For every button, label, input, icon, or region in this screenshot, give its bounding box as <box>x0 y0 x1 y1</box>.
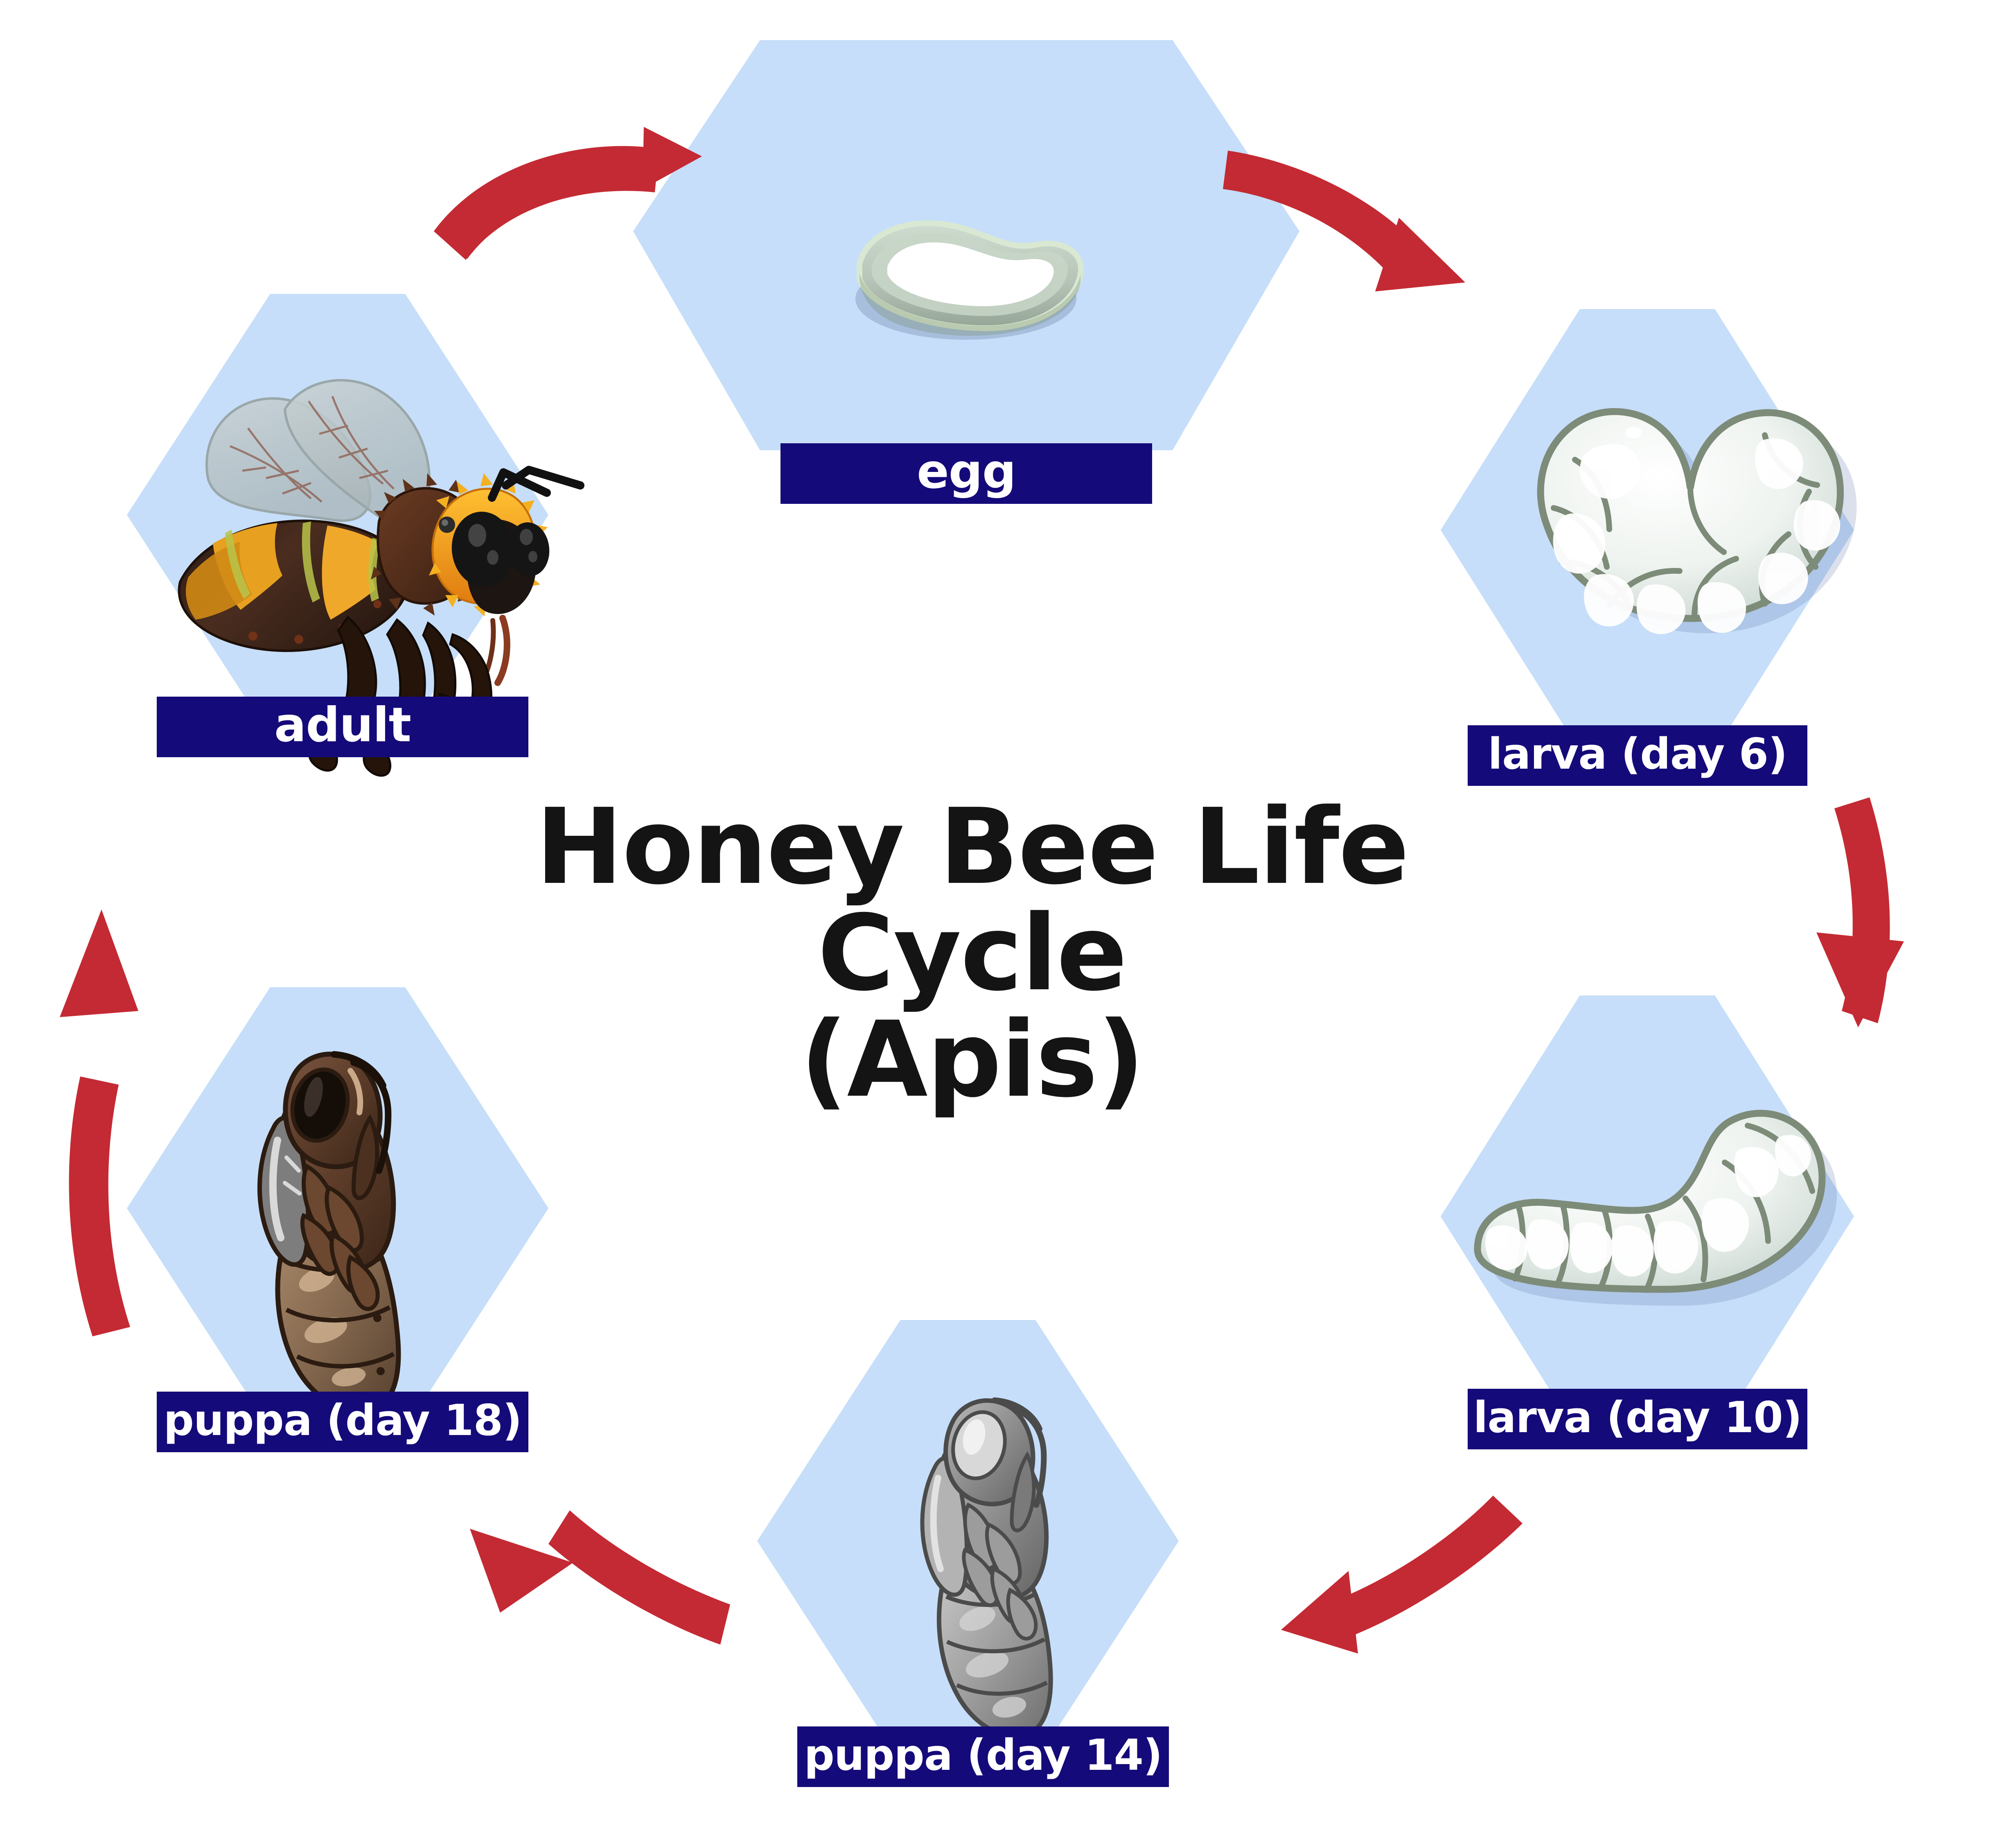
arrow-pupa14-to-pupa18 <box>470 1510 730 1645</box>
stage-label-adult-text: adult <box>274 702 411 749</box>
stage-label-adult[interactable]: adult <box>157 697 528 757</box>
stage-label-egg[interactable]: egg <box>780 443 1152 504</box>
stage-label-larva-day-6-text: larva (day 6) <box>1488 733 1787 775</box>
arrow-pupa18-to-adult <box>60 909 138 1336</box>
bee-egg-icon <box>855 223 1081 340</box>
stage-label-puppa-day-18[interactable]: puppa (day 18) <box>157 1392 528 1452</box>
stage-label-larva-day-10-text: larva (day 10) <box>1473 1396 1802 1439</box>
diagram-canvas <box>0 0 1994 1848</box>
arrow-larva10-to-pupa14 <box>1281 1496 1523 1654</box>
life-cycle-diagram: Honey Bee Life Cycle (Apis) egg larva (d… <box>0 0 1994 1848</box>
arrow-larva6-to-larva10 <box>1816 797 1904 1027</box>
stage-label-puppa-day-14[interactable]: puppa (day 14) <box>797 1726 1169 1787</box>
stage-label-puppa-day-18-text: puppa (day 18) <box>164 1399 522 1442</box>
stage-label-larva-day-10[interactable]: larva (day 10) <box>1468 1389 1807 1449</box>
stage-label-egg-text: egg <box>917 448 1016 496</box>
stage-label-puppa-day-14-text: puppa (day 14) <box>804 1734 1162 1776</box>
stage-label-larva-day-6[interactable]: larva (day 6) <box>1468 725 1807 786</box>
